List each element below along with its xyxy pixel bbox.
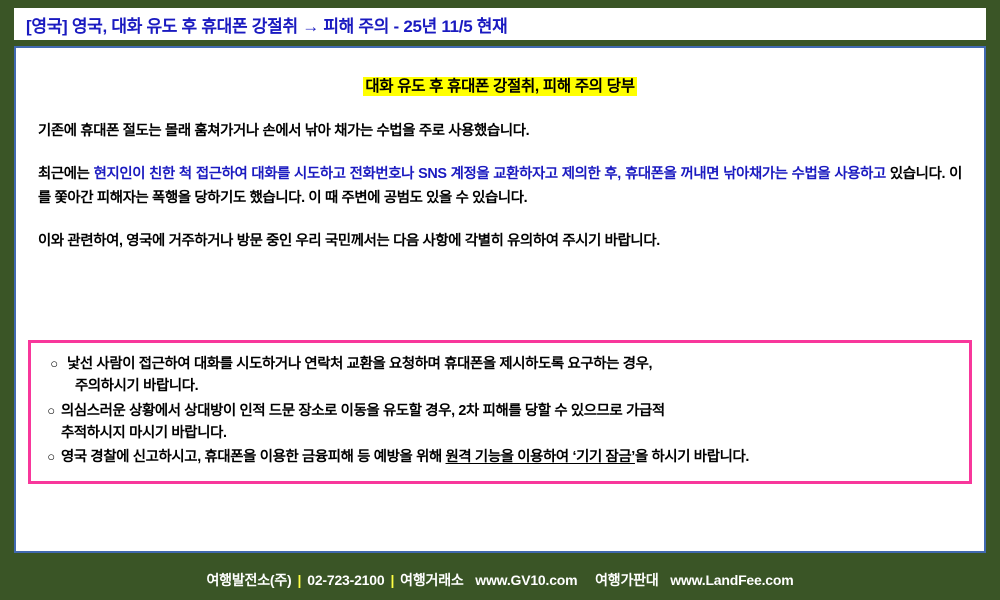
advisory-item-2: ○ 의심스러운 상황에서 상대방이 인적 드문 장소로 이동을 유도할 경우, …	[41, 400, 957, 445]
advisory-item-1: ○ 낯선 사람이 접근하여 대화를 시도하거나 연락처 교환을 요청하며 휴대폰…	[41, 353, 957, 398]
page-title: [영국] 영국, 대화 유도 후 휴대폰 강절취 → 피해 주의 - 25년 1…	[26, 12, 507, 37]
footer-brand-1-url[interactable]: www.GV10.com	[475, 572, 577, 588]
footer-brand-2-label: 여행가판대	[595, 572, 658, 588]
page-footer: 여행발전소(주)|02-723-2100|여행거래소 www.GV10.com …	[0, 560, 1000, 600]
advisory-item-1-line-2: 주의하시기 바랍니다.	[67, 375, 957, 397]
advisory-item-1-line-1: 낯선 사람이 접근하여 대화를 시도하거나 연락처 교환을 요청하며 휴대폰을 …	[67, 356, 652, 372]
advisory-item-2-text: 의심스러운 상황에서 상대방이 인적 드문 장소로 이동을 유도할 경우, 2차…	[61, 400, 957, 445]
bullet-circle-icon: ○	[41, 400, 61, 421]
advisory-item-3-text: 영국 경찰에 신고하시고, 휴대폰을 이용한 금융피해 등 예방을 위해 원격 …	[61, 446, 957, 468]
footer-content: 여행발전소(주)|02-723-2100|여행거래소 www.GV10.com …	[207, 570, 794, 590]
advisory-item-3-pre: 영국 경찰에 신고하시고, 휴대폰을 이용한 금융피해 등 예방을 위해	[61, 449, 446, 465]
advisory-item-3-post: 을 하시기 바랍니다.	[635, 449, 749, 465]
notice-heading: 대화 유도 후 휴대폰 강절취, 피해 주의 당부	[16, 74, 984, 96]
footer-phone: 02-723-2100	[307, 572, 384, 588]
bullet-circle-icon: ○	[41, 446, 61, 467]
advisory-item-3-underlined: 원격 기능을 이용하여 ‘기기 잠금’	[446, 449, 635, 465]
bullet-circle-icon: ○	[41, 353, 67, 374]
notice-content-panel: 대화 유도 후 휴대폰 강절취, 피해 주의 당부 기존에 휴대폰 절도는 몰래…	[14, 46, 986, 553]
footer-separator-1: |	[292, 572, 308, 588]
footer-brand-1-label: 여행거래소	[400, 572, 463, 588]
paragraph-2: 최근에는 현지인이 친한 척 접근하여 대화를 시도하고 전화번호나 SNS 계…	[38, 163, 962, 210]
advisory-item-2-line-2: 추적하시지 마시기 바랍니다.	[61, 422, 957, 444]
advisory-box: ○ 낯선 사람이 접근하여 대화를 시도하거나 연락처 교환을 요청하며 휴대폰…	[28, 340, 972, 484]
advisory-item-2-line-1: 의심스러운 상황에서 상대방이 인적 드문 장소로 이동을 유도할 경우, 2차…	[61, 403, 665, 419]
paragraph-2-run-1: 최근에는	[38, 166, 94, 182]
paragraph-1: 기존에 휴대폰 절도는 몰래 훔쳐가거나 손에서 낚아 채가는 수법을 주로 사…	[38, 120, 962, 143]
paragraph-2-run-2-emphasis: 현지인이 친한 척 접근하여 대화를 시도하고 전화번호나 SNS 계정을 교환…	[94, 166, 886, 182]
advisory-item-1-text: 낯선 사람이 접근하여 대화를 시도하거나 연락처 교환을 요청하며 휴대폰을 …	[67, 353, 957, 398]
window-title-bar: [영국] 영국, 대화 유도 후 휴대폰 강절취 → 피해 주의 - 25년 1…	[14, 8, 986, 40]
notice-body: 기존에 휴대폰 절도는 몰래 훔쳐가거나 손에서 낚아 채가는 수법을 주로 사…	[16, 120, 984, 253]
footer-brand-2-url[interactable]: www.LandFee.com	[670, 572, 793, 588]
footer-separator-2: |	[384, 572, 400, 588]
paragraph-3-run-1: 이와 관련하여, 영국에 거주하거나 방문 중인 우리 국민께서는 다음 사항에…	[38, 233, 660, 249]
footer-company: 여행발전소(주)	[207, 572, 292, 588]
paragraph-1-run-1: 기존에 휴대폰 절도는 몰래 훔쳐가거나 손에서 낚아 채가는 수법을 주로 사…	[38, 123, 529, 139]
notice-heading-text: 대화 유도 후 휴대폰 강절취, 피해 주의 당부	[363, 77, 636, 96]
advisory-item-3: ○ 영국 경찰에 신고하시고, 휴대폰을 이용한 금융피해 등 예방을 위해 원…	[41, 446, 957, 468]
paragraph-3: 이와 관련하여, 영국에 거주하거나 방문 중인 우리 국민께서는 다음 사항에…	[38, 230, 962, 253]
